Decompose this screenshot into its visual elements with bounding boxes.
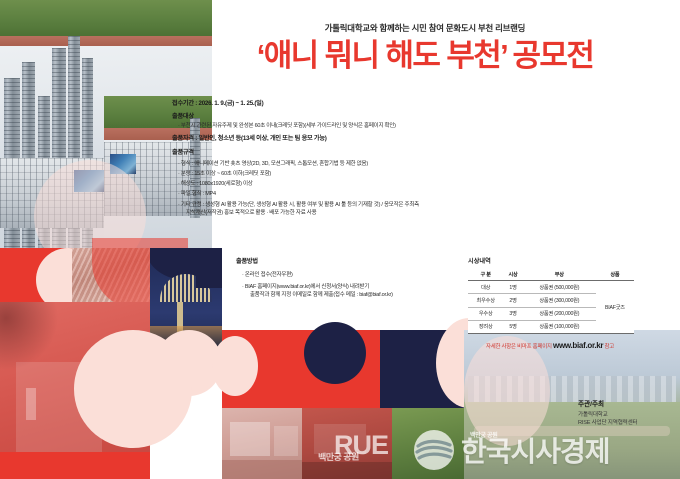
method-item-download: · BIAF 홈페이지(www.biaf.or.kr)에서 신청서(양식) 내려… [236,283,446,291]
period-label: 접수기간 : 2026. 1. 9.(금) ~ 1. 25.(일) [172,100,472,109]
photo-caption-park-sign: 백만궁 공원 [318,450,359,464]
col-gift: 상품 [596,268,634,281]
col-count: 시상 [503,268,522,281]
cell-gift: BIAF굿즈 [596,281,634,334]
cell-amount: 상품권 (500,000원) [523,281,596,294]
spec-item-etc-cont: 지식재산(저작권) 홍보 목적으로 활용 · 배포 가능한 자료 사용 [172,209,472,217]
host-title: 주관/주최 [578,398,676,408]
decor-circle-navy-1 [304,322,366,384]
cell-amount: 상품권 (100,000원) [523,320,596,333]
col-amount: 부상 [523,268,596,281]
decor-circle-blush-4 [74,330,192,448]
cell-count: 5명 [503,320,522,333]
photo-pastel-building [222,408,302,479]
col-grade: 구 분 [468,268,503,281]
decor-plate-red-2 [0,452,150,479]
cell-amount: 상품권 (300,000원) [523,294,596,307]
photo-caption-park-sign-small: 백만궁 공원 [470,430,497,439]
spec-item-etc: · 기타 규정 : 생성형 AI 활용 가능(단, 생성형 AI 활용 시, 활… [172,201,472,209]
host-block: 주관/주최 가톨릭대학교 RISE 사업단 지역협력센터 [578,398,676,428]
poster-canvas: 백만궁 공원 백만궁 공원 가톨릭대학교와 함께하는 시민 참여 문화도시 부천… [0,0,680,479]
cell-grade: 최우수상 [468,294,503,307]
website-line: 자세한 사항은 비마프 홈페이지 www.biaf.or.kr 참고 [455,341,645,350]
target-block: 출품대상 · 부천시 관련된 자유주제 및 완성본 60초 이내(크레딧 포함)… [172,113,472,130]
cell-grade: 우수상 [468,307,503,320]
decor-plate-navy-2 [196,248,222,288]
table-header-row: 구 분 시상 부상 상품 [468,268,634,281]
spec-item-resolution: · 해상도 : 1080x1920(세로형) 이상 [172,180,472,188]
spec-item-length: · 분량 : 15초 이상 ~ 60초 이하(크레딧 포함) [172,170,472,178]
decor-circle-blush-5 [212,336,258,396]
method-block: 출품방법 · 온라인 접수(전자우편) · BIAF 홈페이지(www.biaf… [236,258,446,300]
photo-brick-building [302,408,392,479]
spec-item-filetype: · 파일 형식 : MP4 [172,190,472,198]
cell-grade: 장려상 [468,320,503,333]
cell-count: 2명 [503,294,522,307]
photo-green-field [392,408,464,479]
spec-label: 출품규격 [172,149,472,158]
website-url[interactable]: www.biaf.or.kr [553,341,603,350]
prize-table-title: 시상내역 [468,256,634,265]
poster-header: 가톨릭대학교와 함께하는 시민 참여 문화도시 부천 리브랜딩 ‘애니 뭐니 해… [170,22,680,71]
method-label: 출품방법 [236,258,446,267]
target-label: 출품대상 [172,113,472,122]
qualification-label: 출품자격 : 일반인, 청소년 등(13세 이상, 개인 또는 팀 응모 가능) [172,135,472,144]
period-block: 접수기간 : 2026. 1. 9.(금) ~ 1. 25.(일) [172,100,472,109]
spec-block: 출품규격 · 형식 : 애니메이션 기반 숏츠 영상(2D, 3D, 모션그래픽… [172,149,472,217]
target-item: · 부천시 관련된 자유주제 및 완성본 60초 이내(크레딧 포함)(세부 가… [172,122,472,130]
prize-table: 구 분 시상 부상 상품 대상 1명 상품권 (500,000원) BIAF굿즈… [468,268,634,334]
cell-grade: 대상 [468,281,503,294]
website-suffix: 참고 [603,344,614,350]
website-prefix: 자세한 사항은 비마프 홈페이지 [486,344,553,350]
host-line-university: 가톨릭대학교 [578,411,676,420]
spec-item-format: · 형식 : 애니메이션 기반 숏츠 영상(2D, 3D, 모션그래픽, 스톱모… [172,160,472,168]
method-item-online: · 온라인 접수(전자우편) [236,271,446,279]
page-title: ‘애니 뭐니 해도 부천’ 공모전 [170,40,680,71]
qualification-block: 출품자격 : 일반인, 청소년 등(13세 이상, 개인 또는 팀 응모 가능) [172,135,472,144]
cell-count: 1명 [503,281,522,294]
details-column: 접수기간 : 2026. 1. 9.(금) ~ 1. 25.(일) 출품대상 ·… [172,100,472,222]
cell-count: 3명 [503,307,522,320]
host-line-center: RISE 사업단 지역협력센터 [578,419,676,428]
table-row: 대상 1명 상품권 (500,000원) BIAF굿즈 [468,281,634,294]
method-item-email: 출품작과 함께 지정 이메일로 함께 제출(접수 메일 : biaf@biaf.… [236,291,446,299]
header-subtitle: 가톨릭대학교와 함께하는 시민 참여 문화도시 부천 리브랜딩 [170,22,680,34]
prize-table-block: 시상내역 구 분 시상 부상 상품 대상 1명 상품권 (500,000원) B… [468,256,634,334]
cell-amount: 상품권 (200,000원) [523,307,596,320]
